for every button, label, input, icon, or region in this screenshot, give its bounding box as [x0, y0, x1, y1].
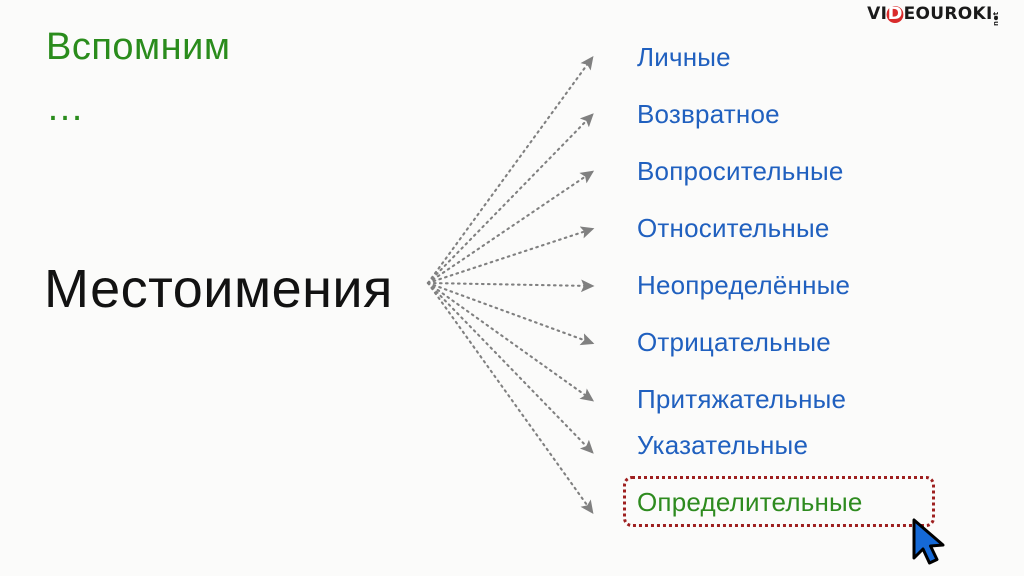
recall-heading: Вспомним — [46, 20, 231, 75]
connector-arrow — [428, 229, 592, 283]
connector-arrow — [428, 283, 592, 512]
category-item[interactable]: Неопределённые — [637, 272, 850, 298]
highlight-box-opredelitelnye — [623, 476, 935, 527]
connector-arrow — [428, 115, 592, 283]
connector-arrow — [428, 283, 592, 452]
category-item[interactable]: Указательные — [637, 432, 808, 458]
connector-arrow — [428, 172, 592, 283]
category-item[interactable]: Отрицательные — [637, 329, 831, 355]
category-item[interactable]: Относительные — [637, 215, 830, 241]
recall-ellipsis: … — [46, 86, 86, 132]
connector-arrow — [428, 283, 592, 343]
main-term-label: Местоимения — [44, 258, 393, 320]
connector-arrow — [428, 58, 592, 283]
category-item[interactable]: Притяжательные — [637, 386, 846, 412]
connector-arrow — [428, 283, 592, 286]
category-item[interactable]: Вопросительные — [637, 158, 844, 184]
category-item[interactable]: Личные — [637, 44, 731, 70]
slide-canvas: VIDEOUROKI. net Вспомним … Местоимения Л… — [0, 0, 1024, 576]
mouse-cursor-icon — [910, 518, 956, 570]
category-item[interactable]: Возвратное — [637, 101, 780, 127]
connector-arrow — [428, 283, 592, 400]
